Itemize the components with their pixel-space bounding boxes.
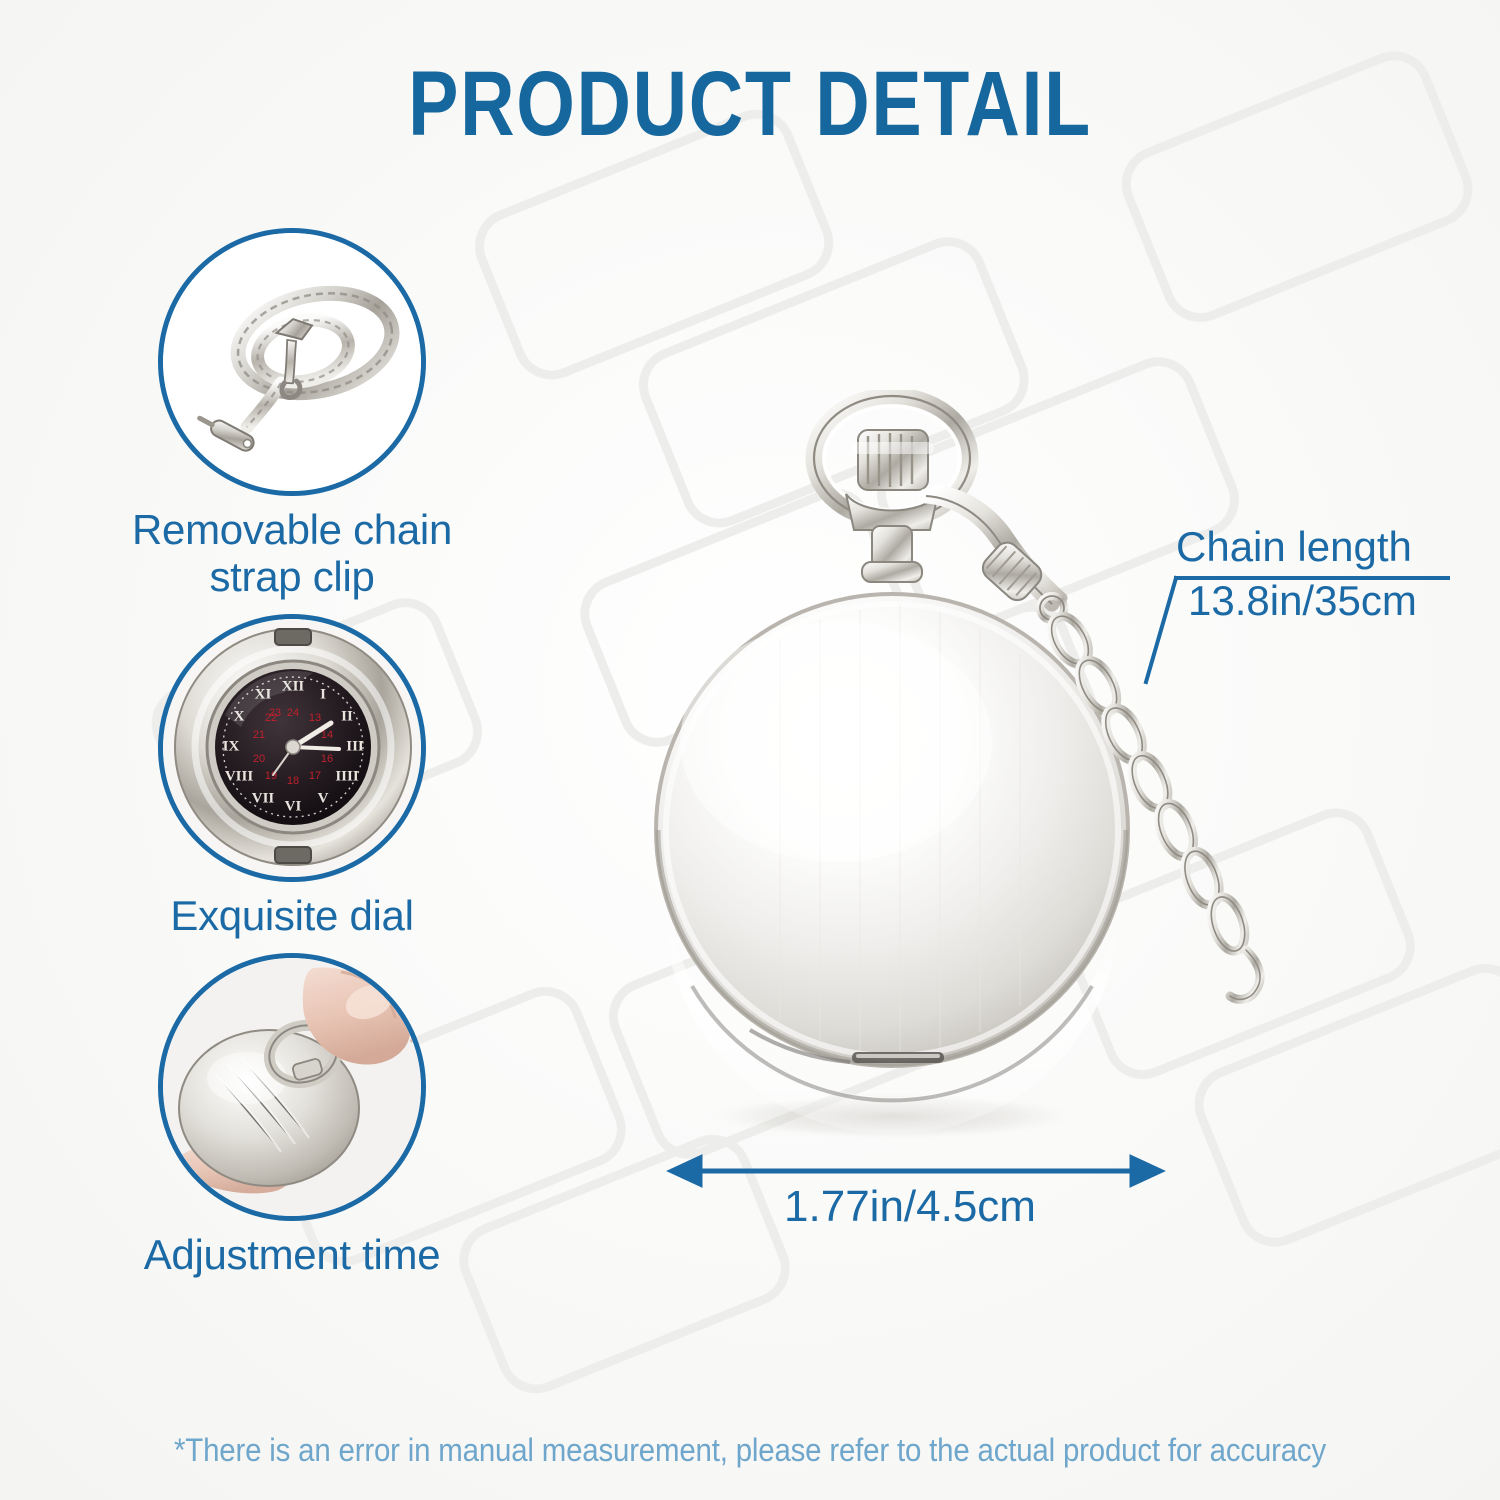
svg-text:17: 17 xyxy=(309,770,321,782)
pocket-watch-chain-photo-icon xyxy=(163,233,421,491)
thumbnail-wrap[interactable] xyxy=(158,228,426,496)
svg-text:V: V xyxy=(318,791,329,807)
svg-text:IX: IX xyxy=(223,739,240,755)
svg-text:II: II xyxy=(341,709,353,725)
callout-chain-length: Chain length 13.8in/35cm xyxy=(1176,520,1417,628)
callout-case-width-value: 1.77in/4.5cm xyxy=(672,1182,1148,1232)
svg-text:VI: VI xyxy=(285,799,302,815)
feature-label: Exquisite dial xyxy=(92,892,492,939)
feature-exquisite-dial[interactable]: XII I II III IIII V VI VII VIII IX X xyxy=(92,614,492,939)
feature-label: Adjustment time xyxy=(92,1231,492,1278)
thumbnail-ring xyxy=(158,953,426,1221)
thumbnail-ring: XII I II III IIII V VI VII VIII IX X xyxy=(158,614,426,882)
footer-disclaimer: *There is an error in manual measurement… xyxy=(60,1432,1440,1469)
feature-label-line1: Exquisite dial xyxy=(92,892,492,939)
feature-list: Removable chain strap clip xyxy=(92,228,492,1292)
feature-label-line2: strap clip xyxy=(92,553,492,600)
main-product-pocket-watch xyxy=(600,390,1300,1150)
arrow-head-left xyxy=(672,1158,700,1184)
thumbnail-wrap[interactable]: XII I II III IIII V VI VII VIII IX X xyxy=(158,614,426,882)
svg-text:I: I xyxy=(320,687,326,703)
svg-text:21: 21 xyxy=(253,729,265,741)
callout-chain-length-title: Chain length xyxy=(1176,520,1417,574)
feature-adjustment-time[interactable]: Adjustment time xyxy=(92,953,492,1278)
svg-text:IIII: IIII xyxy=(335,769,359,785)
feature-removable-chain[interactable]: Removable chain strap clip xyxy=(92,228,492,600)
svg-text:18: 18 xyxy=(287,775,299,787)
callout-chain-length-value: 13.8in/35cm xyxy=(1176,574,1417,628)
arrow-head-right xyxy=(1132,1158,1160,1184)
svg-text:20: 20 xyxy=(253,753,265,765)
page-title: PRODUCT DETAIL xyxy=(135,58,1365,150)
svg-text:VII: VII xyxy=(252,791,275,807)
thumbnail-wrap[interactable] xyxy=(158,953,426,1221)
svg-text:23: 23 xyxy=(269,707,281,719)
svg-text:13: 13 xyxy=(309,712,321,724)
thumbnail-ring xyxy=(158,228,426,496)
svg-text:VIII: VIII xyxy=(225,769,254,785)
watch-dial-photo-icon: XII I II III IIII V VI VII VIII IX X xyxy=(163,619,421,877)
hand-holding-watch-photo-icon xyxy=(163,958,421,1216)
feature-label: Removable chain strap clip xyxy=(92,506,492,600)
product-detail-page: PRODUCT DETAIL xyxy=(0,0,1500,1500)
svg-text:24: 24 xyxy=(287,707,299,719)
feature-label-line1: Removable chain xyxy=(92,506,492,553)
svg-text:16: 16 xyxy=(321,753,333,765)
feature-label-line1: Adjustment time xyxy=(92,1231,492,1278)
svg-text:III: III xyxy=(346,739,364,755)
